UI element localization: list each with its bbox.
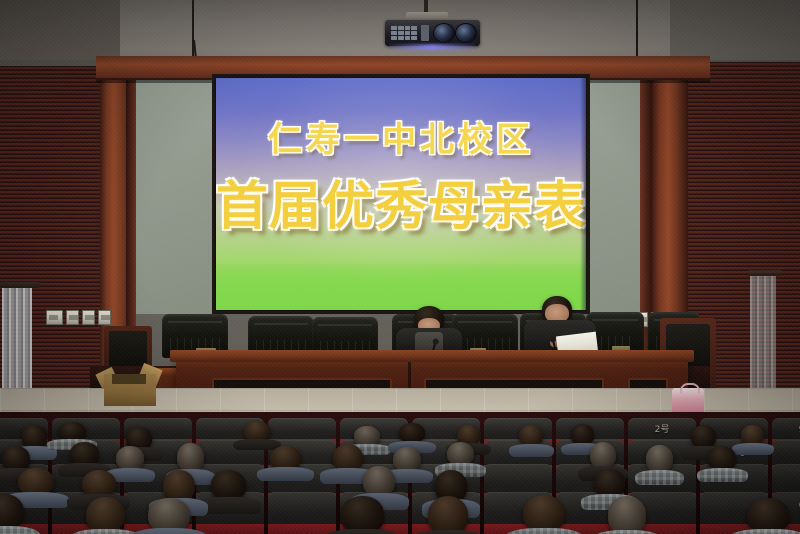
audience-member-head [747,498,789,532]
audience-member-head [354,426,380,445]
ceiling-projector [385,20,480,46]
screen-title-line-2: 首届优秀母亲表彰大会 [216,164,586,239]
screen-title-line-1: 仁寿一中北校区 [216,112,586,161]
seat-number-label: 2号 [655,422,670,435]
projection-screen: 仁寿一中北校区 首届优秀母亲表彰大会 [216,78,586,310]
auditorium-photograph: 仁寿一中北校区 首届优秀母亲表彰大会 [0,0,800,534]
audience-member-head [708,446,736,470]
audience-member-head [116,446,143,470]
audience-member-head [333,444,364,471]
projector-indicator-glow [389,44,475,50]
audience-member-head [211,470,246,500]
audience-member-head [608,496,646,534]
audience-member-head [399,423,425,444]
wall-switch-plates-left[interactable] [46,310,111,325]
cardboard-box [98,364,160,406]
audience-member-head [741,425,764,445]
audience-member-head [70,442,99,465]
hanging-cable-right [636,0,638,60]
pink-bag [672,388,704,414]
audience-member-head [447,442,475,465]
wall-plate-icon[interactable] [66,310,79,325]
wall-panel-sage-left [136,78,220,314]
audience-member-head [148,498,190,532]
ceiling-shadow-right [670,0,800,62]
audience-member-head [594,469,625,496]
seat-trim [196,524,264,534]
audience-member-head [82,470,116,497]
audience-member-head [519,425,543,447]
screen-edge-shadow [580,78,586,310]
audience-member-head [393,447,421,472]
wall-plate-icon[interactable] [98,310,111,325]
podium-table-top [170,350,694,362]
box-interior [112,374,146,384]
audience-member-head [523,495,566,531]
audience-member-head [86,497,125,532]
seat-trim [268,524,336,534]
audience-member-head [691,425,716,449]
audience-member-head [163,470,195,501]
projector-lens-secondary-icon [455,23,477,43]
audience-seat[interactable] [268,492,336,534]
audience-member-head [244,421,270,441]
audience-member-head [59,422,86,441]
projector-control-keys [391,26,417,40]
audience-member-head [22,425,47,448]
audience-member-head [428,496,469,534]
audience-member-head [571,424,594,445]
audience-member-head [590,442,617,468]
wall-plate-icon[interactable] [46,310,63,325]
audience-member-head [177,443,204,471]
curtain-rod-right [748,270,782,276]
audience-member-head [270,446,301,470]
curtain-rod-left [0,282,40,288]
projector-lens-icon [433,23,455,43]
wall-plate-icon[interactable] [82,310,95,325]
audience-member-head [646,445,673,472]
audience-member-head [341,496,383,533]
speaker-right [524,296,596,358]
audience-member-head [2,446,30,471]
audience-member-head [18,468,54,495]
projector-vent [421,25,429,41]
audience-member-head [363,466,395,496]
